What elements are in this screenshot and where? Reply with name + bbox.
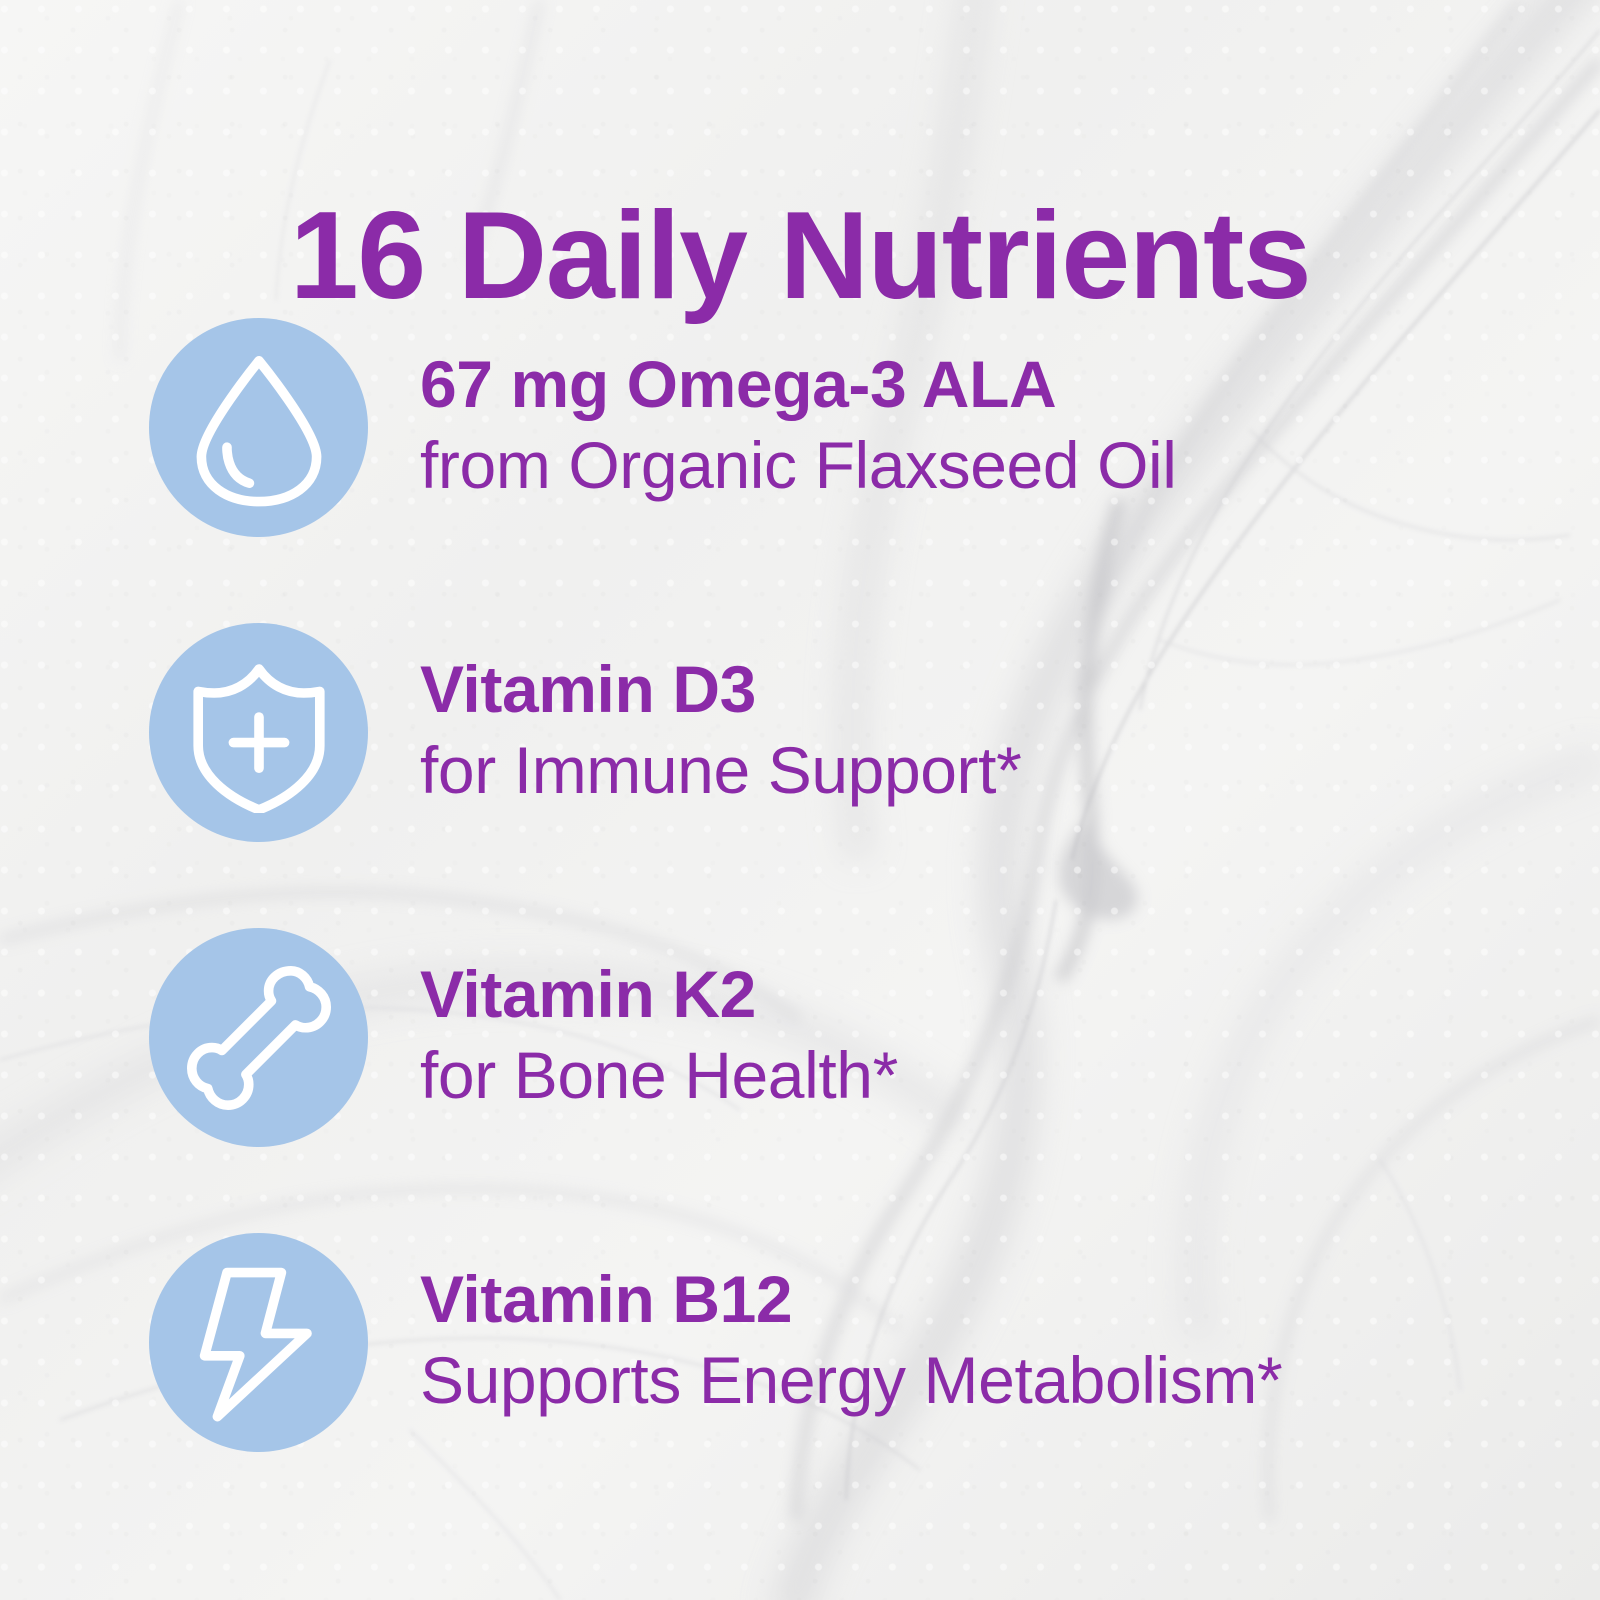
nutrient-text: 67 mg Omega-3 ALA from Organic Flaxseed … [420,318,1600,505]
nutrient-secondary-label: from Organic Flaxseed Oil [420,425,1600,506]
lightning-bolt-icon [179,1263,339,1423]
water-drop-icon [179,348,339,508]
nutrient-primary-label: Vitamin B12 [420,1259,1600,1340]
nutrient-text: Vitamin K2 for Bone Health* [420,928,1600,1115]
bone-icon [179,958,339,1118]
bone-icon-badge [149,928,368,1147]
list-item: 67 mg Omega-3 ALA from Organic Flaxseed … [0,318,1600,623]
list-item: Vitamin K2 for Bone Health* [0,928,1600,1233]
nutrient-primary-label: 67 mg Omega-3 ALA [420,344,1600,425]
list-item: Vitamin D3 for Immune Support* [0,623,1600,928]
water-drop-icon-badge [149,318,368,537]
lightning-bolt-icon-badge [149,1233,368,1452]
shield-plus-icon [179,653,339,813]
nutrient-text: Vitamin D3 for Immune Support* [420,623,1600,810]
nutrient-secondary-label: for Immune Support* [420,730,1600,811]
promo-graphic: 16 Daily Nutrients 67 mg Omega-3 ALA fro… [0,0,1600,1600]
nutrient-secondary-label: for Bone Health* [420,1035,1600,1116]
page-title: 16 Daily Nutrients [0,191,1600,322]
nutrient-text: Vitamin B12 Supports Energy Metabolism* [420,1233,1600,1420]
nutrient-primary-label: Vitamin K2 [420,954,1600,1035]
nutrient-primary-label: Vitamin D3 [420,649,1600,730]
nutrient-list: 67 mg Omega-3 ALA from Organic Flaxseed … [0,318,1600,1538]
list-item: Vitamin B12 Supports Energy Metabolism* [0,1233,1600,1538]
nutrient-secondary-label: Supports Energy Metabolism* [420,1340,1600,1421]
shield-plus-icon-badge [149,623,368,842]
